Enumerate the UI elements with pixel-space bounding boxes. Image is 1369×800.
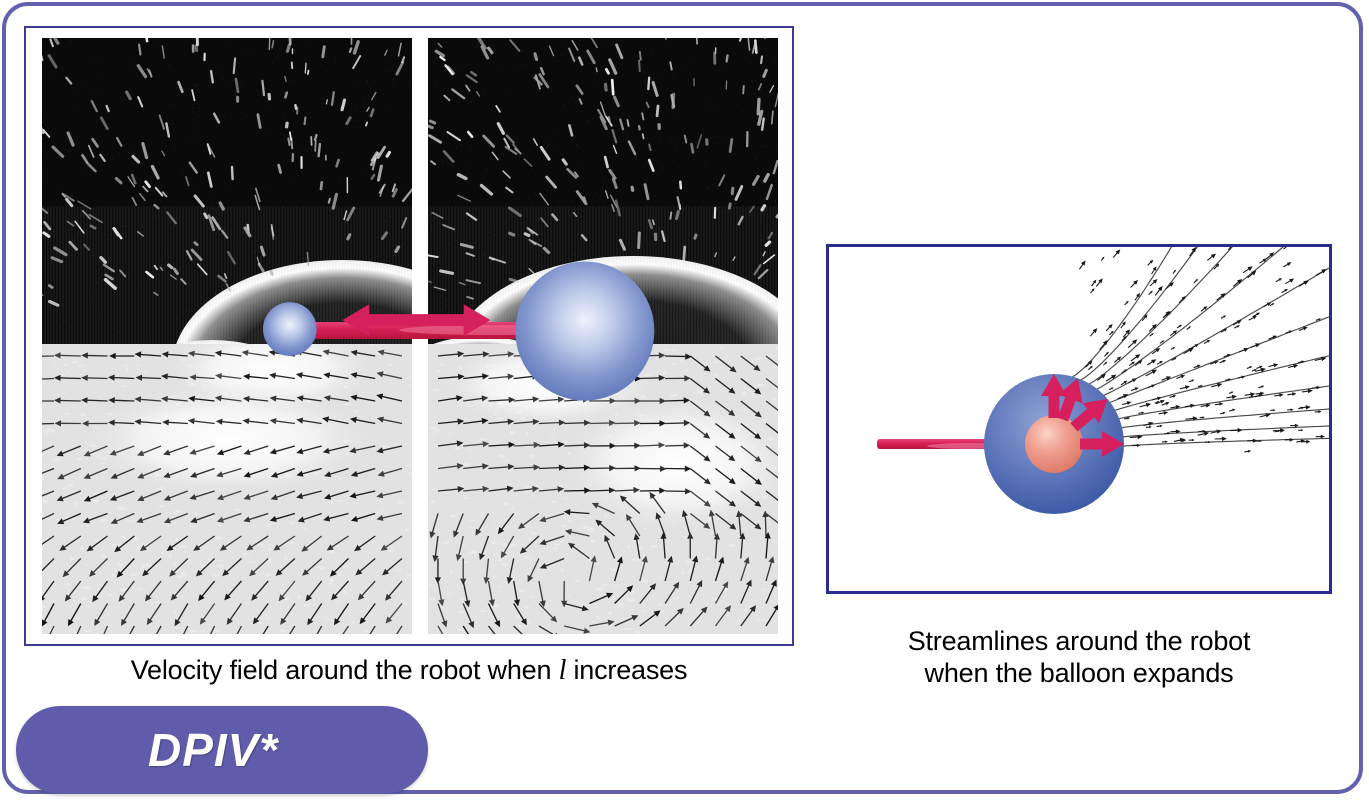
caption-left-suffix: increases bbox=[566, 655, 687, 685]
slide-frame: Velocity field around the robot when l i… bbox=[2, 2, 1363, 794]
piv-quadrant-bottom-left bbox=[42, 344, 412, 634]
caption-right-line2: when the balloon expands bbox=[826, 658, 1332, 690]
piv-quadrant-top-right bbox=[428, 38, 778, 344]
caption-streamlines: Streamlines around the robot when the ba… bbox=[826, 626, 1332, 690]
dpiv-badge[interactable]: DPIV* bbox=[16, 706, 428, 794]
caption-right-line1: Streamlines around the robot bbox=[826, 626, 1332, 658]
piv-composite-image bbox=[26, 28, 792, 644]
velocity-field-panel bbox=[24, 26, 794, 646]
dpiv-badge-label: DPIV* bbox=[148, 723, 278, 777]
piv-quadrant-top-left bbox=[42, 38, 412, 344]
caption-velocity-field: Velocity field around the robot when l i… bbox=[24, 654, 794, 687]
piv-quadrant-bottom-right bbox=[428, 344, 778, 634]
caption-left-prefix: Velocity field around the robot when bbox=[131, 655, 559, 685]
streamlines-panel bbox=[826, 244, 1332, 594]
streamlines-figure bbox=[829, 247, 1329, 591]
